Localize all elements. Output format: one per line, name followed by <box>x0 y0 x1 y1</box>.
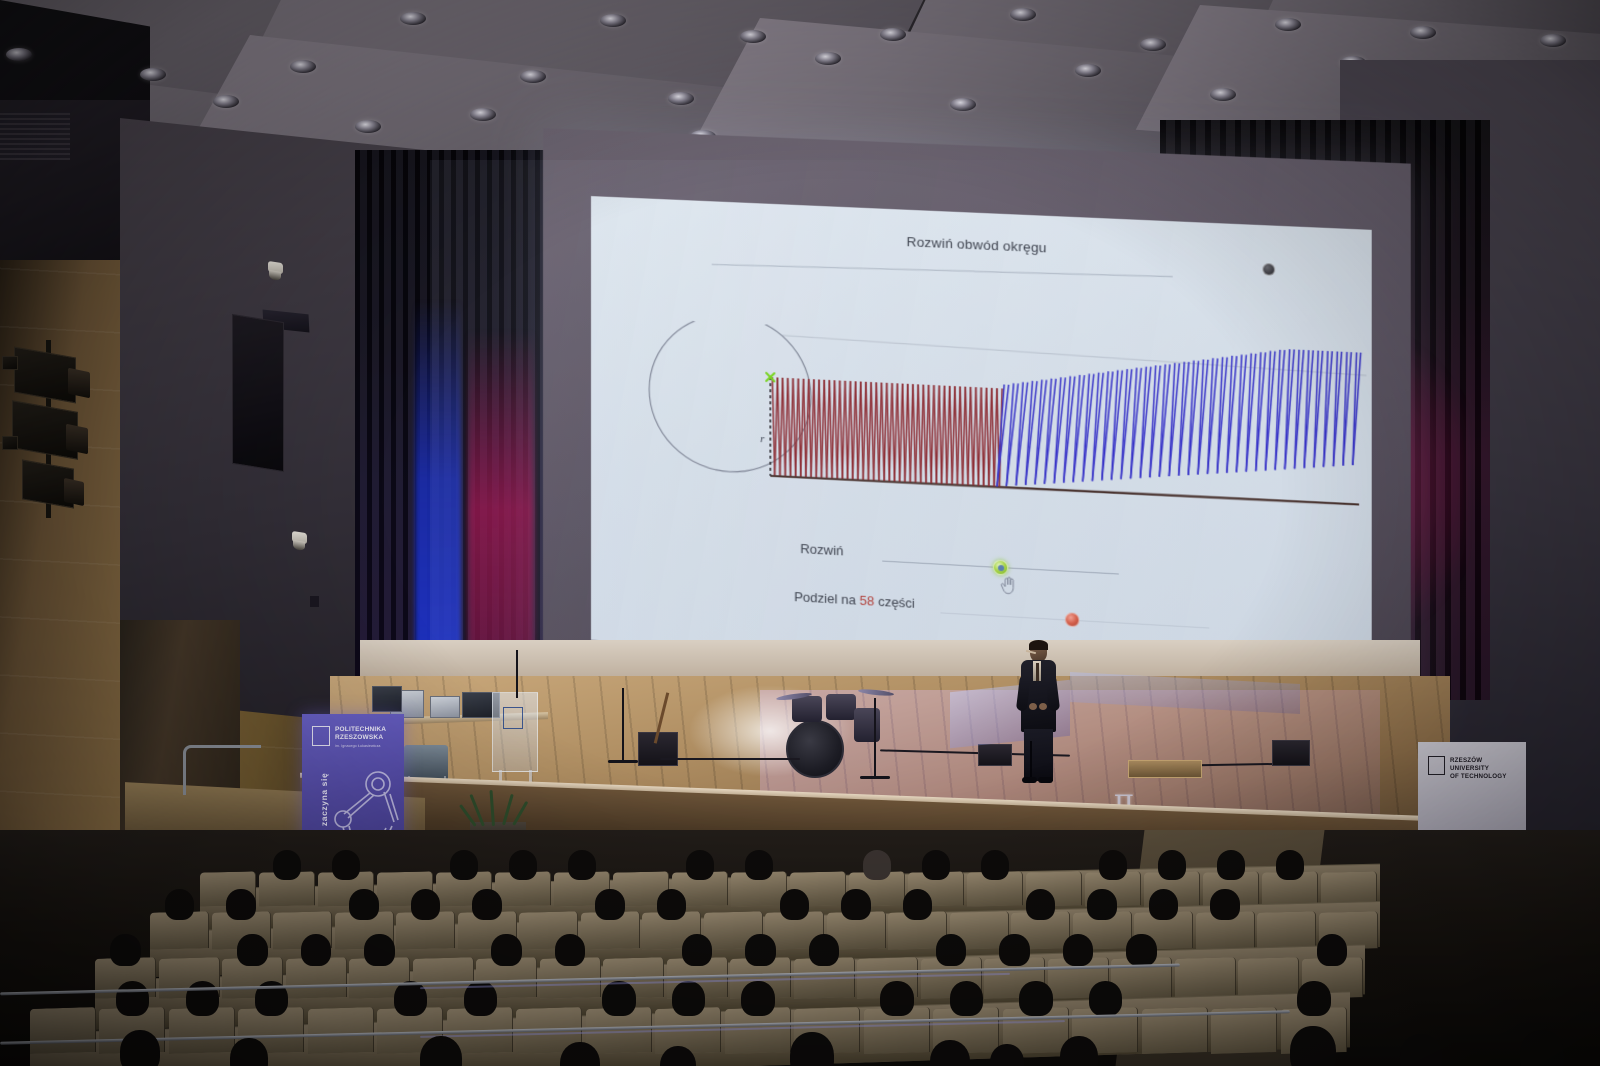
banner-right-title-line1: RZESZÓW UNIVERSITY <box>1450 757 1522 773</box>
banner-left-title-line2: RZESZOWSKA <box>335 734 399 742</box>
projection-screen[interactable]: Rozwiń obwód okręgu r <box>591 196 1372 685</box>
floor-tom <box>854 708 880 742</box>
tom-drum <box>792 696 822 722</box>
presenter-leg-gap <box>1030 741 1032 779</box>
presenter-hair <box>1029 640 1048 650</box>
downlight-icon <box>1140 38 1166 51</box>
stage-light-fixture <box>14 347 76 404</box>
seat[interactable] <box>1175 957 1236 999</box>
audience-member <box>981 850 1009 880</box>
stage-cable <box>660 758 800 760</box>
presenter-trousers <box>1024 729 1053 781</box>
presenter <box>1016 641 1060 781</box>
audience-member <box>1060 1036 1098 1066</box>
audience-member <box>863 850 891 880</box>
downlight-icon <box>140 68 166 81</box>
bass-drum <box>786 720 844 778</box>
handrail <box>183 745 261 795</box>
audience-member <box>1149 889 1179 920</box>
audience-member <box>364 934 394 966</box>
banner-right-title: RZESZÓW UNIVERSITY OF TECHNOLOGY <box>1450 757 1522 781</box>
audience-member <box>602 981 635 1016</box>
chair <box>404 745 448 779</box>
audience-member <box>120 1030 160 1066</box>
audience-member <box>555 934 585 966</box>
pr-monogram-logo-icon <box>503 707 523 729</box>
camera-lens <box>293 540 305 551</box>
unrolling-circle-figure <box>591 316 1372 558</box>
audience-member <box>1317 934 1347 966</box>
audience-member <box>999 934 1029 966</box>
audience-member <box>1210 889 1240 920</box>
wall-fitting <box>310 596 319 607</box>
audience-member <box>273 850 301 880</box>
vent-grille <box>0 112 70 160</box>
audience-member <box>1099 850 1127 880</box>
radius-label: r <box>760 433 764 445</box>
banner-left-subtitle: im. Ignacego Łukasiewicza <box>335 744 399 748</box>
seat[interactable] <box>1257 911 1316 949</box>
audience-member <box>841 889 871 920</box>
audience-member <box>332 850 360 880</box>
audience-member <box>682 934 712 966</box>
downlight-icon <box>213 95 239 108</box>
banner-left-title: POLITECHNIKA RZESZOWSKA <box>335 726 399 742</box>
mic-stand <box>622 688 624 762</box>
audience-member <box>509 850 537 880</box>
audience-member <box>1158 850 1186 880</box>
hand-cursor-icon <box>1000 575 1016 595</box>
divide-control-row: Podziel na 58 części <box>591 585 1372 629</box>
audience-member <box>411 889 441 920</box>
audience-member <box>657 889 687 920</box>
camera-lens <box>269 270 281 281</box>
downlight-icon <box>880 28 906 41</box>
mic-stand-base <box>608 760 638 763</box>
wooden-crate <box>1128 760 1202 778</box>
plant-leaf <box>502 794 514 826</box>
downlight-icon <box>950 98 976 111</box>
downlight-icon <box>1540 34 1566 47</box>
monitor <box>372 686 402 712</box>
stage-monitor <box>978 744 1012 766</box>
audience-member <box>1063 934 1093 966</box>
audience-member <box>1217 850 1245 880</box>
auditorium-house <box>0 830 1600 1066</box>
line-array-speaker <box>232 314 284 472</box>
security-camera-icon <box>290 531 308 556</box>
downlight-icon <box>1010 8 1036 21</box>
top-slider-track[interactable] <box>712 264 1173 277</box>
lectern <box>492 692 538 772</box>
divide-slider-thumb[interactable] <box>1065 612 1079 627</box>
audience-member <box>1026 889 1056 920</box>
mic-stand <box>874 698 876 778</box>
slide-title: Rozwiń obwód okręgu <box>591 220 1372 270</box>
banner-right-title-line2: OF TECHNOLOGY <box>1450 773 1522 781</box>
stage-curtain-left <box>355 150 570 710</box>
divide-label-suffix: części <box>878 593 915 610</box>
stage-light-barrel <box>68 368 90 399</box>
banner-left-title-line1: POLITECHNIKA <box>335 726 399 734</box>
stage-light-barrel <box>66 424 88 455</box>
lectern-mic <box>516 650 518 698</box>
pr-monogram-logo-icon <box>312 726 330 746</box>
audience-member <box>568 850 596 880</box>
audience-member <box>301 934 331 966</box>
presenter-hand-left <box>1029 703 1037 710</box>
audience-member <box>116 981 149 1016</box>
divide-value: 58 <box>860 592 875 608</box>
point-handle[interactable] <box>1263 263 1276 276</box>
audience-member <box>491 934 521 966</box>
presenter-shoe-left <box>1022 777 1037 783</box>
downlight-icon <box>1075 64 1101 77</box>
audience-member <box>450 850 478 880</box>
divide-label-prefix: Podziel na <box>794 589 856 608</box>
downlight-icon <box>1275 18 1301 31</box>
curtain-red-light <box>468 330 534 690</box>
unfold-slider-thumb[interactable] <box>993 560 1008 576</box>
audience-member <box>880 981 913 1016</box>
audience-member <box>1019 981 1052 1016</box>
audience-member <box>349 889 379 920</box>
audience-member <box>226 889 256 920</box>
mic-stand-base <box>860 776 890 779</box>
audience-member <box>780 889 810 920</box>
stage-lighting-rig <box>2 340 112 520</box>
audience-member <box>110 934 140 966</box>
audience-member <box>1276 850 1304 880</box>
unfold-label: Rozwiń <box>742 537 843 558</box>
audience-member <box>903 889 933 920</box>
red-segments <box>772 377 1002 487</box>
audience-member <box>745 934 775 966</box>
audience-member <box>1290 1026 1336 1066</box>
audience-member <box>922 850 950 880</box>
audience-member <box>1126 934 1156 966</box>
auditorium-scene: Rozwiń obwód okręgu r <box>0 0 1600 1066</box>
laptop[interactable] <box>430 696 460 718</box>
audience-member <box>1400 1034 1442 1066</box>
audience-member <box>1089 981 1122 1016</box>
downlight-icon <box>1410 26 1436 39</box>
audience-member <box>472 889 502 920</box>
downlight-icon <box>600 14 626 27</box>
downlight-icon <box>400 12 426 25</box>
audience-member <box>672 981 705 1016</box>
presenter-shoe-right <box>1038 777 1053 783</box>
presenter-tie <box>1036 663 1040 681</box>
audience-member <box>686 850 714 880</box>
downlight-icon <box>815 52 841 65</box>
audience-member <box>950 981 983 1016</box>
downlight-icon <box>520 70 546 83</box>
pr-monogram-logo-icon <box>1428 756 1445 775</box>
audience-member <box>1087 889 1117 920</box>
tom-drum <box>826 694 856 720</box>
audience-member <box>237 934 267 966</box>
projection-screen-frame: Rozwiń obwód okręgu r <box>543 128 1411 724</box>
blue-segments <box>997 323 1362 505</box>
audience-member <box>165 889 195 920</box>
stage-light-fixture <box>2 436 18 450</box>
circle-unroll-svg <box>591 316 1372 558</box>
audience-member <box>1297 981 1330 1016</box>
downlight-icon <box>355 120 381 133</box>
audience-member <box>741 981 774 1016</box>
downlight-icon <box>470 108 496 121</box>
stage-monitor <box>1272 740 1310 766</box>
seat[interactable] <box>30 1007 96 1054</box>
downlight-icon <box>6 48 32 61</box>
audience-member <box>595 889 625 920</box>
presenter-hand-right <box>1039 703 1047 710</box>
divide-label: Podziel na 58 części <box>712 584 915 611</box>
audience-member <box>936 934 966 966</box>
security-camera-icon <box>266 261 284 286</box>
downlight-icon <box>740 30 766 43</box>
plant-leaf <box>489 790 495 826</box>
downlight-icon <box>290 60 316 73</box>
downlight-icon <box>668 92 694 105</box>
audience-member <box>1520 1030 1564 1066</box>
seat[interactable] <box>308 1007 374 1054</box>
stage-light-fixture <box>2 356 18 370</box>
audience-member <box>745 850 773 880</box>
downlight-icon <box>1210 88 1236 101</box>
stage-light-barrel <box>64 478 84 506</box>
audience-member <box>809 934 839 966</box>
